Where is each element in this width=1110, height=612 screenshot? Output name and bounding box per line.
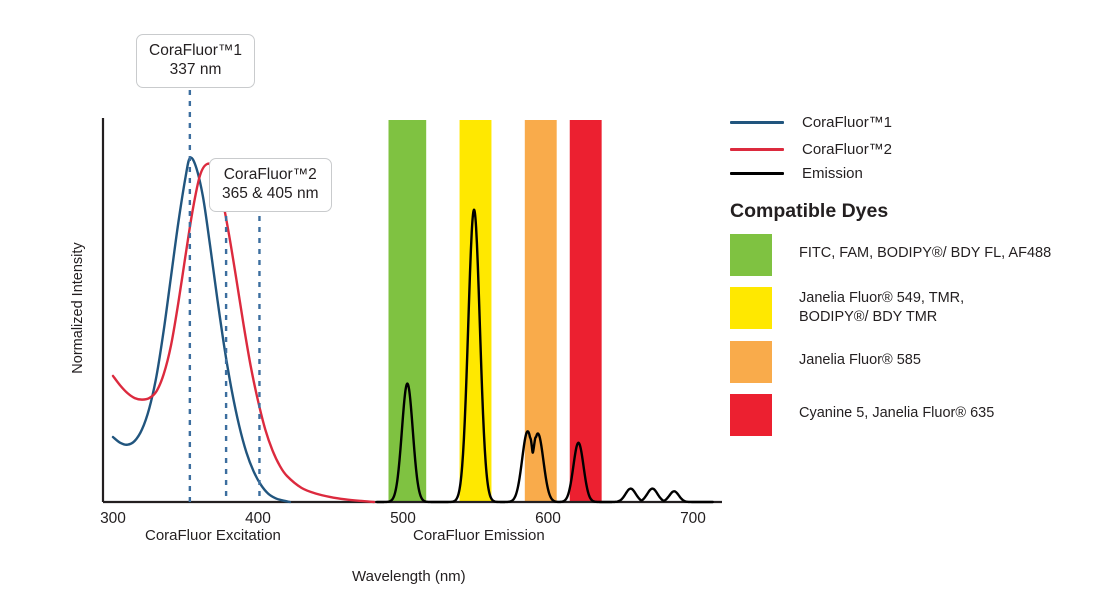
- legend-series-label: CoraFluor™2: [802, 141, 892, 158]
- dye-color-swatch-green: [730, 234, 772, 276]
- legend-series-corafluor-2: CoraFluor™2: [730, 141, 892, 158]
- y-axis-title: Normalized Intensity: [70, 208, 86, 408]
- dye-label: FITC, FAM, BODIPY®/ BDY FL, AF488: [799, 234, 1051, 263]
- callout-cf1-title: CoraFluor™1: [149, 42, 242, 61]
- legend-series-emission: Emission: [730, 165, 863, 182]
- dye-entry-orange: Janelia Fluor® 585: [730, 341, 921, 383]
- excitation-curve: [113, 164, 374, 502]
- dye-label: Cyanine 5, Janelia Fluor® 635: [799, 394, 994, 423]
- chart-page: 300400500600700 CoraFluor™1 337 nm CoraF…: [0, 0, 1110, 612]
- legend-line-swatch-corafluor-2: [730, 148, 784, 151]
- x-tick-label: 400: [245, 510, 271, 527]
- callout-corafluor-1: CoraFluor™1 337 nm: [136, 34, 255, 88]
- dye-color-swatch-orange: [730, 341, 772, 383]
- legend-line-swatch-corafluor-1: [730, 121, 784, 124]
- dye-label: Janelia Fluor® 549, TMR, BODIPY®/ BDY TM…: [799, 287, 964, 326]
- x-tick-label: 700: [680, 510, 706, 527]
- green-band: [389, 120, 427, 502]
- legend-series-label: CoraFluor™1: [802, 114, 892, 131]
- dye-entry-green: FITC, FAM, BODIPY®/ BDY FL, AF488: [730, 234, 1051, 276]
- excitation-region-caption: CoraFluor Excitation: [145, 527, 281, 544]
- x-tick-label: 600: [535, 510, 561, 527]
- callout-cf1-value: 337 nm: [149, 61, 242, 80]
- compatible-dyes-heading: Compatible Dyes: [730, 200, 888, 223]
- callout-cf2-title: CoraFluor™2: [222, 166, 319, 185]
- x-axis-title: Wavelength (nm): [352, 568, 466, 585]
- legend-series-label: Emission: [802, 165, 863, 182]
- spectra-chart: 300400500600700 CoraFluor™1 337 nm CoraF…: [0, 0, 740, 612]
- x-tick-label: 500: [390, 510, 416, 527]
- dye-entry-red: Cyanine 5, Janelia Fluor® 635: [730, 394, 994, 436]
- emission-region-caption: CoraFluor Emission: [413, 527, 545, 544]
- plot-canvas: 300400500600700: [0, 0, 740, 612]
- dye-entry-yellow: Janelia Fluor® 549, TMR, BODIPY®/ BDY TM…: [730, 287, 964, 329]
- x-tick-label: 300: [100, 510, 126, 527]
- red-band: [570, 120, 602, 502]
- dye-color-swatch-red: [730, 394, 772, 436]
- legend-series-corafluor-1: CoraFluor™1: [730, 114, 892, 131]
- legend-line-swatch-emission: [730, 172, 784, 175]
- legend-panel: CoraFluor™1 CoraFluor™2 Emission Compati…: [728, 0, 1110, 612]
- callout-corafluor-2: CoraFluor™2 365 & 405 nm: [209, 158, 332, 212]
- callout-cf2-value: 365 & 405 nm: [222, 185, 319, 204]
- dye-color-swatch-yellow: [730, 287, 772, 329]
- dye-label: Janelia Fluor® 585: [799, 341, 921, 370]
